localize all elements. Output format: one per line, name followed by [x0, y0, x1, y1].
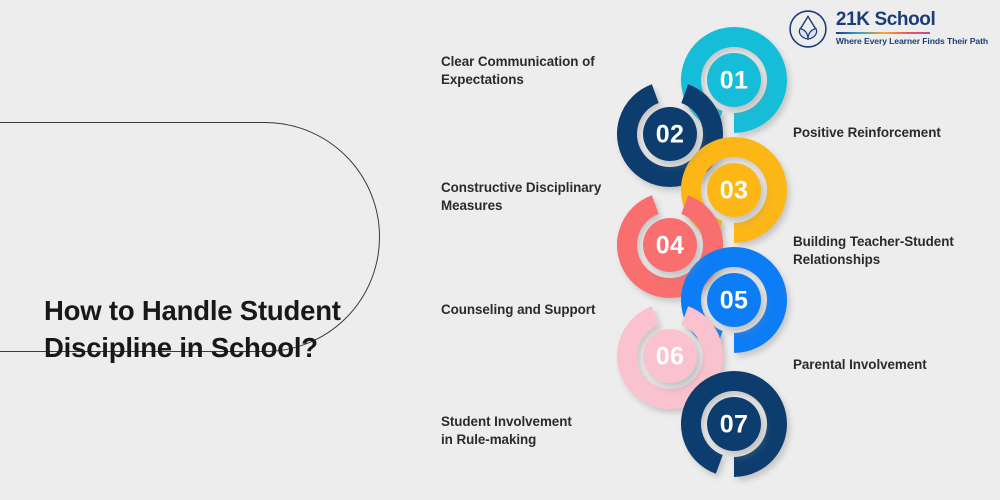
logo-tagline: Where Every Learner Finds Their Path	[836, 36, 988, 46]
logo-gradient-rule	[836, 32, 930, 34]
logo-wordmark: 21K School Where Every Learner Finds The…	[836, 9, 988, 47]
lotus-circle-icon	[788, 9, 828, 49]
step-label-right-3: Parental Involvement	[793, 356, 993, 374]
step-disc-04[interactable]	[643, 218, 697, 272]
step-label-left-4: Student Involvement in Rule-making	[441, 413, 641, 449]
step-disc-02[interactable]	[643, 107, 697, 161]
step-label-right-2: Building Teacher-Student Relationships	[793, 233, 993, 269]
step-disc-01[interactable]	[707, 53, 761, 107]
step-disc-03[interactable]	[707, 163, 761, 217]
step-label-left-1: Clear Communication of Expectations	[441, 53, 641, 89]
step-label-left-2: Constructive Disciplinary Measures	[441, 179, 641, 215]
step-label-left-3: Counseling and Support	[441, 301, 641, 319]
logo-name: 21K School	[836, 10, 988, 29]
brand-logo[interactable]: 21K School Where Every Learner Finds The…	[788, 9, 988, 49]
title-card: How to Handle Student Discipline in Scho…	[0, 122, 380, 352]
page-title: How to Handle Student Discipline in Scho…	[44, 293, 374, 367]
step-disc-07[interactable]	[707, 397, 761, 451]
step-disc-06[interactable]	[643, 329, 697, 383]
step-label-right-1: Positive Reinforcement	[793, 124, 993, 142]
step-disc-05[interactable]	[707, 273, 761, 327]
